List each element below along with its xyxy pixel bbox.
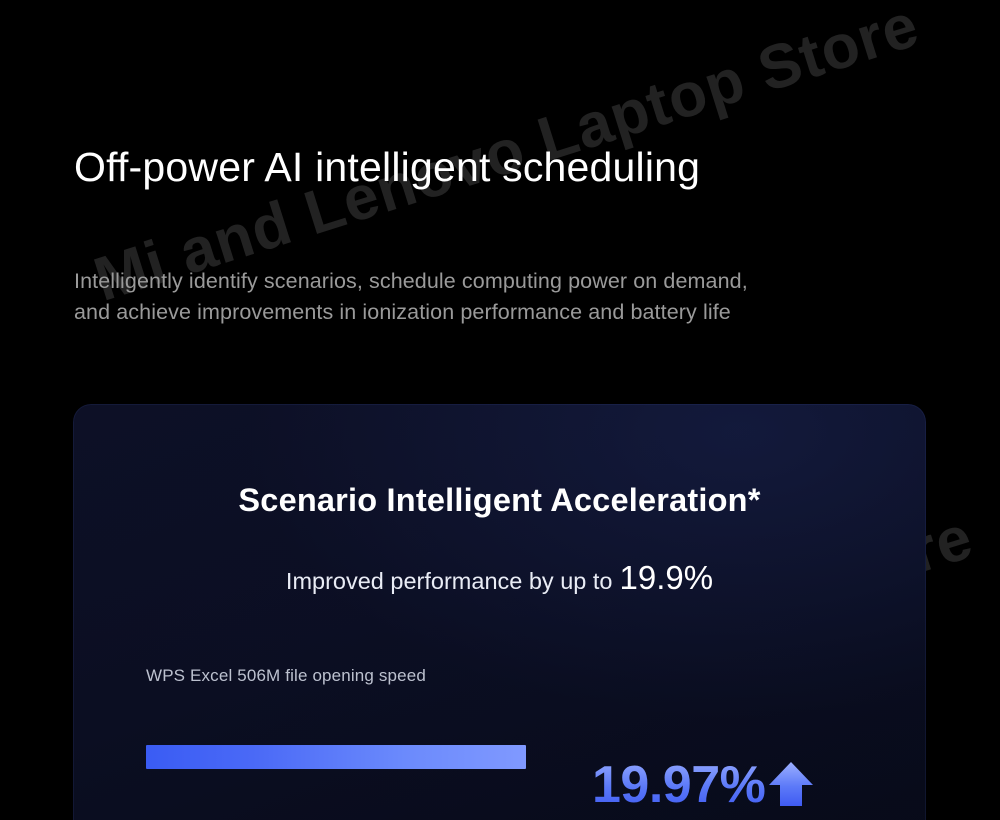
metric-block: WPS Excel 506M file opening speed (146, 666, 886, 686)
page-subtitle-line-2: and achieve improvements in ionization p… (74, 297, 974, 328)
metric-label: WPS Excel 506M file opening speed (146, 666, 886, 686)
page-subtitle-line-1: Intelligently identify scenarios, schedu… (74, 266, 974, 297)
metric-value-group: 19.97% (592, 759, 814, 811)
promo-page: Off-power AI intelligent scheduling Inte… (0, 0, 1000, 820)
bar-fill (146, 745, 526, 769)
metric-value: 19.97% (592, 759, 765, 811)
card-subtitle-value: 19.9% (619, 559, 713, 596)
card-title: Scenario Intelligent Acceleration* (73, 482, 926, 519)
card-subtitle-text: Improved performance by up to (286, 568, 613, 594)
card-subtitle: Improved performance by up to19.9% (73, 559, 926, 597)
page-subtitle: Intelligently identify scenarios, schedu… (74, 266, 974, 327)
page-title: Off-power AI intelligent scheduling (74, 145, 700, 190)
acceleration-card: Scenario Intelligent Acceleration* Impro… (73, 404, 926, 820)
arrow-up-icon (768, 760, 814, 808)
